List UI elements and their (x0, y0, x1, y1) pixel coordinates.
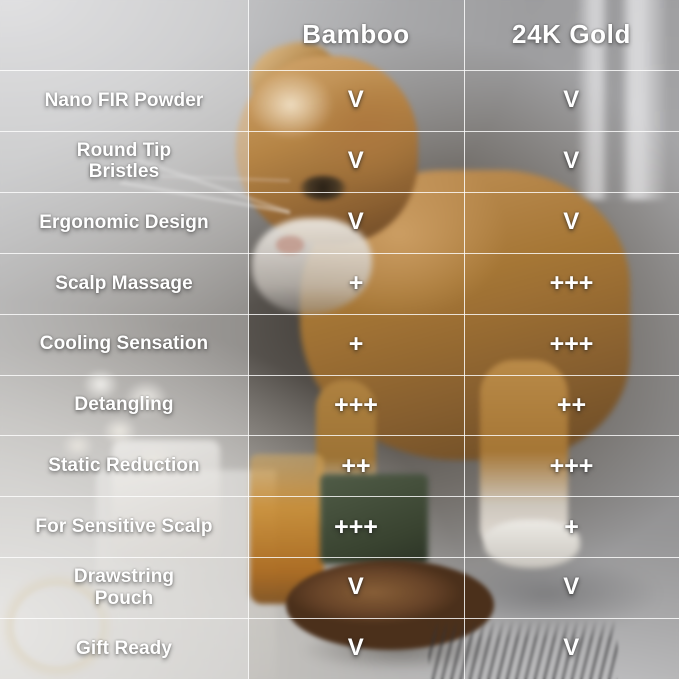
mark-value: V (563, 635, 580, 662)
column-header-gold-label: 24K Gold (512, 20, 631, 49)
cell-bamboo: +++ (248, 496, 464, 557)
mark-value: V (348, 574, 365, 601)
table-row: Drawstring Pouch (0, 557, 248, 618)
feature-label: Scalp Massage (55, 273, 193, 294)
mark-value: +++ (334, 391, 378, 419)
feature-label: Drawstring Pouch (74, 566, 174, 609)
cell-gold: V (464, 131, 679, 192)
mark-value: +++ (550, 269, 594, 297)
cell-bamboo: ++ (248, 435, 464, 496)
feature-label: Detangling (74, 394, 173, 415)
comparison-table-graphic: Bamboo 24K Gold Nano FIR Powder V V Roun… (0, 0, 679, 679)
mark-value: ++ (557, 391, 586, 419)
cell-gold: V (464, 70, 679, 131)
cell-gold: + (464, 496, 679, 557)
cell-gold: ++ (464, 375, 679, 436)
column-header-gold: 24K Gold (464, 0, 679, 70)
column-header-bamboo: Bamboo (248, 0, 464, 70)
table-row: Nano FIR Powder (0, 70, 248, 131)
cell-bamboo: + (248, 314, 464, 375)
cell-bamboo: +++ (248, 375, 464, 436)
feature-label: Round Tip Bristles (77, 140, 171, 183)
mark-value: + (349, 269, 364, 297)
mark-value: V (348, 87, 365, 114)
cell-bamboo: V (248, 557, 464, 618)
cell-gold: V (464, 557, 679, 618)
table-row: Round Tip Bristles (0, 131, 248, 192)
feature-label: For Sensitive Scalp (35, 516, 212, 537)
mark-value: V (563, 574, 580, 601)
table-row: Ergonomic Design (0, 192, 248, 253)
feature-label: Ergonomic Design (39, 212, 208, 233)
table-corner-cell (0, 0, 248, 70)
cell-gold: +++ (464, 253, 679, 314)
table-row: Scalp Massage (0, 253, 248, 314)
mark-value: V (348, 209, 365, 236)
mark-value: +++ (334, 513, 378, 541)
table-row: Cooling Sensation (0, 314, 248, 375)
table-row: For Sensitive Scalp (0, 496, 248, 557)
table-row: Static Reduction (0, 435, 248, 496)
cell-gold: V (464, 618, 679, 679)
mark-value: +++ (550, 452, 594, 480)
mark-value: ++ (341, 452, 370, 480)
column-header-bamboo-label: Bamboo (302, 20, 410, 49)
cell-gold: V (464, 192, 679, 253)
mark-value: +++ (550, 330, 594, 358)
mark-value: V (348, 635, 365, 662)
cell-bamboo: V (248, 70, 464, 131)
mark-value: V (348, 148, 365, 175)
mark-value: V (563, 209, 580, 236)
feature-comparison-table: Bamboo 24K Gold Nano FIR Powder V V Roun… (0, 0, 679, 679)
mark-value: V (563, 87, 580, 114)
feature-label: Cooling Sensation (40, 333, 208, 354)
feature-label: Static Reduction (48, 455, 200, 476)
mark-value: V (563, 148, 580, 175)
mark-value: + (564, 513, 579, 541)
cell-bamboo: V (248, 131, 464, 192)
cell-gold: +++ (464, 435, 679, 496)
cell-bamboo: V (248, 618, 464, 679)
mark-value: + (349, 330, 364, 358)
feature-label: Gift Ready (76, 638, 172, 659)
table-row: Detangling (0, 375, 248, 436)
cell-bamboo: V (248, 192, 464, 253)
feature-label: Nano FIR Powder (45, 90, 204, 111)
table-row: Gift Ready (0, 618, 248, 679)
cell-bamboo: + (248, 253, 464, 314)
cell-gold: +++ (464, 314, 679, 375)
